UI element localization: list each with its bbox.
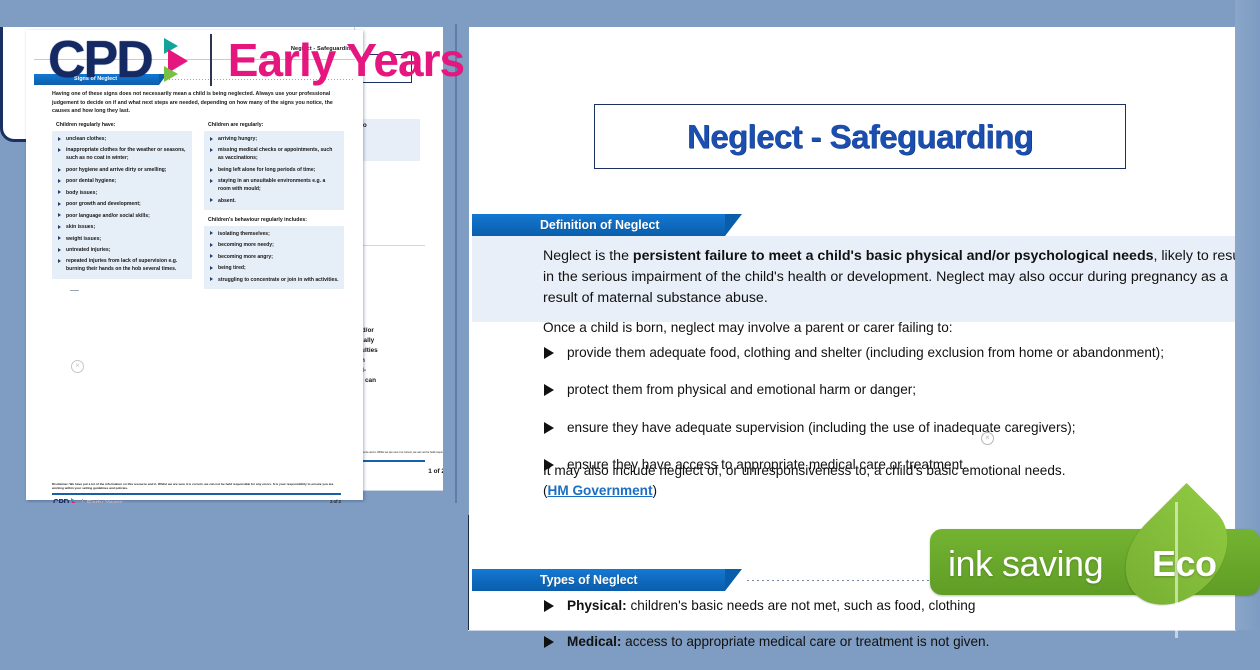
background-page-content: g ological needs, likely to may also occ… [355, 27, 453, 490]
list-item: staying in an unsuitable environments e.… [209, 177, 339, 193]
list-item: skin issues; [57, 223, 187, 231]
lead-in-text: Once a child is born, neglect may involv… [543, 318, 1183, 338]
closing-block: It may also include neglect of, or unres… [543, 461, 1203, 500]
thumbnail-list: isolating themselves; becoming more need… [209, 230, 339, 284]
brand-logo: CPD Early Years [48, 34, 464, 86]
thumbnail-list: arriving hungry; missing medical checks … [209, 135, 339, 205]
list-item: protect them from physical and emotional… [543, 381, 1203, 399]
thumbnail-list-box: unclean clothes; inappropriate clothes f… [52, 131, 192, 279]
thumbnail-disclaimer: Disclaimer: We have put a lot of the inf… [52, 482, 341, 491]
page-gutter-divider [455, 24, 457, 512]
section-banner-definition: Definition of Neglect [472, 214, 725, 236]
comment-marker-icon[interactable]: × [71, 360, 84, 373]
list-item: being tired; [209, 264, 339, 272]
thumbnail-intro-text: Having one of these signs does not neces… [52, 90, 342, 116]
section-banner-label: Definition of Neglect [540, 218, 659, 232]
list-item: inappropriate clothes for the weather or… [57, 146, 187, 162]
list-item: untreated injuries; [57, 246, 187, 254]
list-item: poor language and/or social skills; [57, 212, 187, 220]
list-item: struggling to concentrate or join in wit… [209, 276, 339, 284]
types-of-neglect-list: Physical: children's basic needs are not… [543, 597, 989, 670]
section-banner-types: Types of Neglect [472, 569, 725, 591]
list-item: absent. [209, 197, 339, 205]
thumbnail-footer-rule [52, 493, 341, 495]
list-item: becoming more angry; [209, 253, 339, 261]
list-item: ensure they have adequate supervision (i… [543, 419, 1203, 437]
eco-badge-label: ink saving [948, 543, 1103, 585]
type-text: children's basic needs are not met, such… [627, 598, 976, 613]
thumbnail-list: unclean clothes; inappropriate clothes f… [57, 135, 187, 274]
thumbnail-list-box: arriving hungry; missing medical checks … [204, 131, 344, 210]
background-page-sheet[interactable]: g ological needs, likely to may also occ… [355, 27, 453, 490]
source-close-paren: ) [653, 483, 658, 498]
thumbnail-column-right: Children are regularly: arriving hungry;… [204, 122, 344, 296]
app-canvas: g ological needs, likely to may also occ… [0, 0, 1260, 630]
background-disclaimer: Disclaimer: We have put a lot of the inf… [355, 451, 453, 454]
list-item: becoming more needy; [209, 241, 339, 249]
thumbnail-column-heading: Children regularly have: [56, 122, 192, 128]
brand-divider [210, 34, 212, 86]
list-item: being left alone for long periods of tim… [209, 166, 339, 174]
page-title: Neglect - Safeguarding [687, 118, 1033, 156]
definition-emphasis: persistent failure to meet a child's bas… [633, 248, 1154, 264]
list-item: unclean clothes; [57, 135, 187, 143]
list-item: arriving hungry; [209, 135, 339, 143]
list-item: isolating themselves; [209, 230, 339, 238]
list-item: provide them adequate food, clothing and… [543, 344, 1203, 362]
list-item: poor hygiene and arrive dirty or smellin… [57, 166, 187, 174]
type-term: Medical: [567, 634, 621, 649]
hm-government-link[interactable]: HM Government [548, 483, 653, 498]
window-top-band [0, 0, 1260, 27]
background-divider [355, 245, 425, 246]
type-text: access to appropriate medical care or tr… [621, 634, 989, 649]
list-item: repeated injuries from lack of supervisi… [57, 257, 187, 273]
annotation-line-icon [70, 290, 79, 291]
thumbnail-list-box-2: isolating themselves; becoming more need… [204, 226, 344, 289]
brand-early-years-text: Early Years [228, 37, 464, 83]
list-item: body issues; [57, 189, 187, 197]
page-title-box: Neglect - Safeguarding [594, 104, 1126, 169]
definition-text: Neglect is the persistent failure to mee… [543, 246, 1256, 309]
list-item: weight issues; [57, 235, 187, 243]
closing-text: It may also include neglect of, or unres… [543, 461, 1203, 481]
type-term: Physical: [567, 598, 627, 613]
definition-lead: Neglect is the [543, 248, 633, 264]
window-bottom-band [0, 503, 469, 515]
background-footer-rule [355, 460, 425, 462]
source-line: (HM Government) [543, 481, 1203, 501]
chevron-icon [158, 36, 200, 84]
thumbnail-column-left: Children regularly have: unclean clothes… [52, 122, 192, 286]
thumbnail-page-sheet[interactable]: Neglect - Safeguarding Signs of Neglect … [26, 30, 363, 500]
list-item: Medical: access to appropriate medical c… [543, 633, 989, 651]
thumbnail-column-heading-2: Children's behaviour regularly includes: [208, 217, 344, 223]
list-item: missing medical checks or appointments, … [209, 146, 339, 162]
list-item: poor dental hygiene; [57, 177, 187, 185]
ink-saving-eco-badge[interactable]: ink saving Eco [930, 529, 1260, 595]
list-item: poor growth and development; [57, 200, 187, 208]
definition-callout: Neglect is the persistent failure to mee… [472, 236, 1260, 322]
section-banner-label: Types of Neglect [540, 573, 638, 587]
comment-marker-icon[interactable]: × [981, 432, 994, 445]
list-item: Physical: children's basic needs are not… [543, 597, 989, 615]
brand-cpd-text: CPD [48, 34, 152, 86]
thumbnail-column-heading: Children are regularly: [208, 122, 344, 128]
eco-badge-eco-text: Eco [1152, 543, 1217, 585]
